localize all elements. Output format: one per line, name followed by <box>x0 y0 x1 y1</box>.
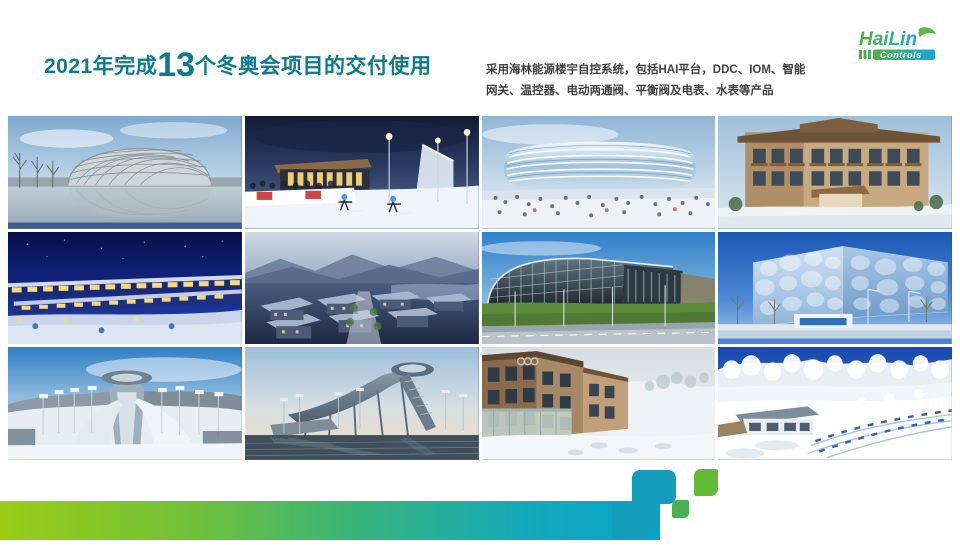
gallery-item-zhangjiakou-olympic-village-snow[interactable] <box>482 347 716 460</box>
venue-photo-grid <box>8 116 952 460</box>
gallery-item-shougang-big-air-ski-jump[interactable] <box>8 347 242 460</box>
page-title: 2021年完成13个冬奥会项目的交付使用 <box>44 48 432 82</box>
photo-olympic-village-hotel <box>718 116 952 229</box>
footer-accent-square-large <box>694 469 718 496</box>
hailin-controls-logo: HaiLin Controls <box>858 24 950 64</box>
svg-text:HaiLin: HaiLin <box>859 29 917 50</box>
footer-bracket-icon <box>612 470 690 540</box>
photo-ski-village-aerial <box>245 232 479 345</box>
footer-accent-square-small <box>672 500 689 518</box>
gallery-item-national-indoor-stadium-glass-facade[interactable] <box>482 232 716 345</box>
photo-snow-ruyi <box>245 347 479 460</box>
title-number: 13 <box>157 46 195 84</box>
title-suffix: 个冬奥会项目的交付使用 <box>195 55 432 78</box>
gallery-item-cross-country-skiing-venue-night[interactable] <box>245 116 479 229</box>
svg-text:Controls: Controls <box>880 50 922 60</box>
gallery-item-national-speed-skating-oval-ice-ribbon[interactable] <box>482 116 716 229</box>
gallery-item-winter-venue-night-illuminated[interactable] <box>8 232 242 345</box>
description-line-2: 网关、温控器、电动两通阀、平衡阀及电表、水表等产品 <box>486 81 846 102</box>
gallery-item-national-stadium-birds-nest[interactable] <box>8 116 242 229</box>
photo-cross-country-night <box>245 116 479 229</box>
title-prefix: 2021年完成 <box>44 55 157 78</box>
gallery-item-water-cube-national-aquatics-center[interactable] <box>718 232 952 345</box>
photo-water-cube <box>718 232 952 345</box>
gallery-item-cross-country-ski-trails-snowfield[interactable] <box>718 347 952 460</box>
photo-birds-nest <box>8 116 242 229</box>
slide-header: 2021年完成13个冬奥会项目的交付使用 采用海林能源楼宇自控系统，包括HAI平… <box>0 0 960 112</box>
gallery-item-ski-resort-village-aerial-dusk[interactable] <box>245 232 479 345</box>
footer-gradient-bar <box>0 501 660 540</box>
photo-ice-ribbon <box>482 116 716 229</box>
photo-winter-venue-night <box>8 232 242 345</box>
photo-ski-trails-snowfield <box>718 347 952 460</box>
slide-canvas: 2021年完成13个冬奥会项目的交付使用 采用海林能源楼宇自控系统，包括HAI平… <box>0 0 960 540</box>
gallery-item-olympic-village-hotel-building[interactable] <box>718 116 952 229</box>
logo-mark-icon: HaiLin Controls <box>858 24 950 64</box>
description-line-1: 采用海林能源楼宇自控系统，包括HAI平台，DDC、IOM、智能 <box>486 60 846 81</box>
description-text: 采用海林能源楼宇自控系统，包括HAI平台，DDC、IOM、智能 网关、温控器、电… <box>486 60 846 102</box>
gallery-item-snow-ruyi-ski-jumping-center[interactable] <box>245 347 479 460</box>
footer-hook-shape <box>612 470 690 540</box>
photo-zhangjiakou-village <box>482 347 716 460</box>
photo-national-indoor-stadium <box>482 232 716 345</box>
photo-shougang-big-air <box>8 347 242 460</box>
